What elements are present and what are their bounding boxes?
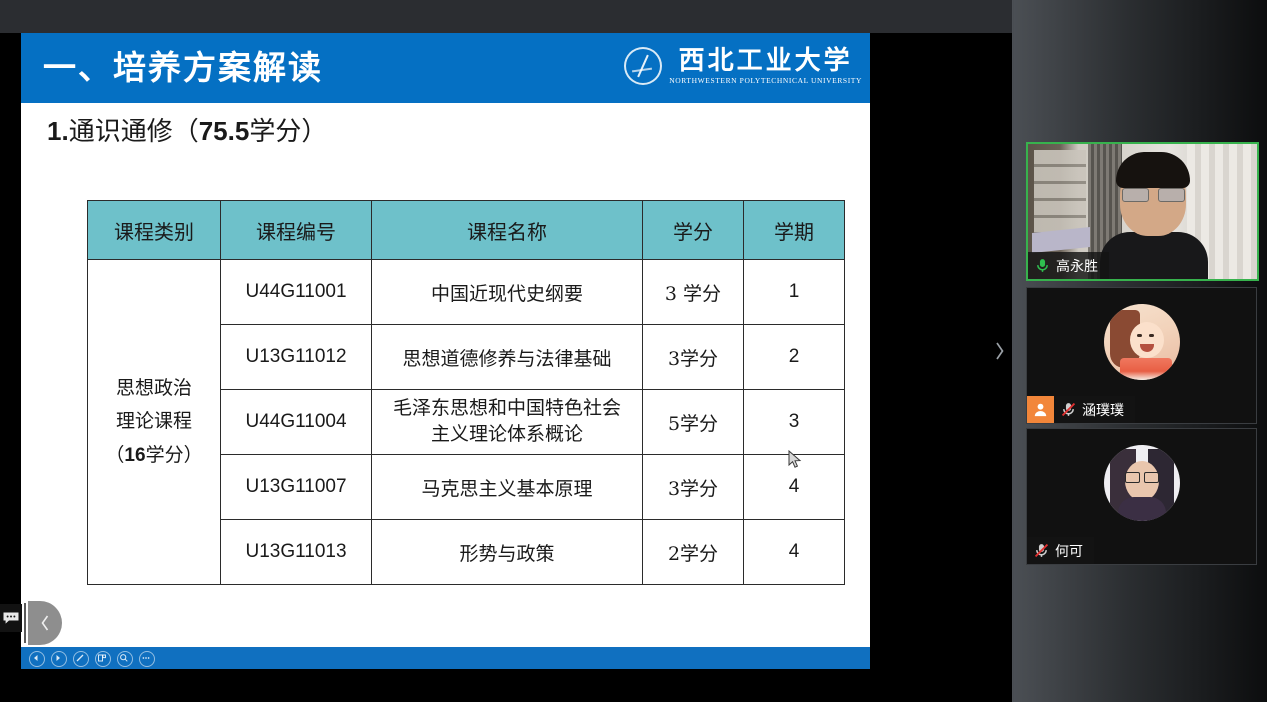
course-name-line-2: 主义理论体系概论: [373, 422, 641, 448]
slide-subtitle: 1.通识通修（75.5学分）: [47, 111, 327, 148]
mic-off-icon: [1033, 542, 1050, 559]
participants-panel: 高永胜: [1014, 0, 1267, 702]
cell-credits: 3学分: [643, 325, 744, 390]
chat-bubble-icon[interactable]: [0, 604, 22, 632]
participant-nameplate: 涵璞璞: [1027, 396, 1135, 423]
participant-name: 高永胜: [1056, 256, 1098, 276]
category-line-1: 思想政治: [89, 372, 219, 405]
overlay-divider: [24, 603, 26, 643]
column-header-term: 学期: [744, 201, 845, 260]
cell-course-code: U13G11012: [221, 325, 372, 390]
participant-tile[interactable]: 高永胜: [1026, 142, 1259, 281]
mic-off-icon: [1060, 401, 1077, 418]
university-seal-icon: [624, 47, 662, 85]
course-table: 课程类别 课程编号 课程名称 学分 学期 思想政治 理论课程 （16学分）: [87, 200, 845, 585]
column-header-course-name: 课程名称: [372, 201, 643, 260]
cell-course-name: 毛泽东思想和中国特色社会 主义理论体系概论: [372, 390, 643, 455]
cell-category: 思想政治 理论课程 （16学分）: [88, 260, 221, 585]
chevron-left-icon: [39, 614, 52, 632]
pen-icon[interactable]: [73, 651, 89, 667]
previous-slide-icon[interactable]: [29, 651, 45, 667]
cell-credits: 3学分: [643, 455, 744, 520]
cell-term: 4: [744, 520, 845, 585]
participant-nameplate: 高永胜: [1028, 252, 1109, 279]
screen-root: 一、培养方案解读 西北工业大学 NORTHWESTERN POLYTECHNIC…: [0, 0, 1267, 702]
cell-course-code: U44G11001: [221, 260, 372, 325]
cell-course-code: U13G11013: [221, 520, 372, 585]
cell-term: 2: [744, 325, 845, 390]
cell-term: 1: [744, 260, 845, 325]
mouse-cursor: [788, 450, 804, 470]
chevron-right-icon: [993, 341, 1006, 361]
table-row: 思想政治 理论课程 （16学分） U44G11001 中国近现代史纲要 3 学分…: [88, 260, 845, 325]
subtitle-unit: 学分）: [249, 117, 327, 147]
cell-credits: 3 学分: [643, 260, 744, 325]
cell-course-name: 形势与政策: [372, 520, 643, 585]
zoom-icon[interactable]: [117, 651, 133, 667]
expand-panel-button[interactable]: [990, 338, 1008, 364]
participant-nameplate: 何可: [1027, 537, 1094, 564]
participant-name: 何可: [1055, 541, 1083, 561]
cell-credits: 5学分: [643, 390, 744, 455]
category-line-3: （16学分）: [89, 439, 219, 472]
cell-credits: 2学分: [643, 520, 744, 585]
host-badge-icon: [1027, 396, 1054, 423]
logo-chinese-name: 西北工业大学: [679, 48, 853, 74]
participant-tile[interactable]: 涵璞璞: [1026, 287, 1257, 424]
slide: 一、培养方案解读 西北工业大学 NORTHWESTERN POLYTECHNIC…: [21, 33, 870, 647]
subtitle-number: 1.: [47, 116, 69, 146]
subtitle-credits: 75.5: [199, 116, 250, 146]
column-header-credits: 学分: [643, 201, 744, 260]
slide-header: 一、培养方案解读 西北工业大学 NORTHWESTERN POLYTECHNIC…: [21, 33, 870, 103]
slides-grid-icon[interactable]: [95, 651, 111, 667]
cell-course-name: 思想道德修养与法律基础: [372, 325, 643, 390]
cell-course-code: U44G11004: [221, 390, 372, 455]
participant-name: 涵璞璞: [1082, 400, 1124, 420]
subtitle-text: 通识通修（: [69, 117, 199, 147]
course-name-line-1: 毛泽东思想和中国特色社会: [373, 396, 641, 422]
top-bar: [0, 0, 1014, 33]
table-header-row: 课程类别 课程编号 课程名称 学分 学期: [88, 201, 845, 260]
category-line-2: 理论课程: [89, 405, 219, 438]
presentation-stage: 一、培养方案解读 西北工业大学 NORTHWESTERN POLYTECHNIC…: [0, 33, 1014, 702]
cell-course-name: 马克思主义基本原理: [372, 455, 643, 520]
mic-on-icon: [1034, 257, 1051, 274]
cell-course-code: U13G11007: [221, 455, 372, 520]
avatar: [1104, 304, 1180, 380]
slideshow-toolbar: [21, 647, 870, 669]
slide-title: 一、培养方案解读: [43, 41, 323, 89]
column-header-category: 课程类别: [88, 201, 221, 260]
column-header-course-code: 课程编号: [221, 201, 372, 260]
cell-term: 3: [744, 390, 845, 455]
participant-tile[interactable]: 何可: [1026, 428, 1257, 565]
avatar: [1104, 445, 1180, 521]
more-options-icon[interactable]: [139, 651, 155, 667]
logo-english-name: NORTHWESTERN POLYTECHNICAL UNIVERSITY: [669, 77, 862, 85]
university-logo: 西北工业大学 NORTHWESTERN POLYTECHNICAL UNIVER…: [624, 47, 862, 85]
next-slide-icon[interactable]: [51, 651, 67, 667]
cell-course-name: 中国近现代史纲要: [372, 260, 643, 325]
